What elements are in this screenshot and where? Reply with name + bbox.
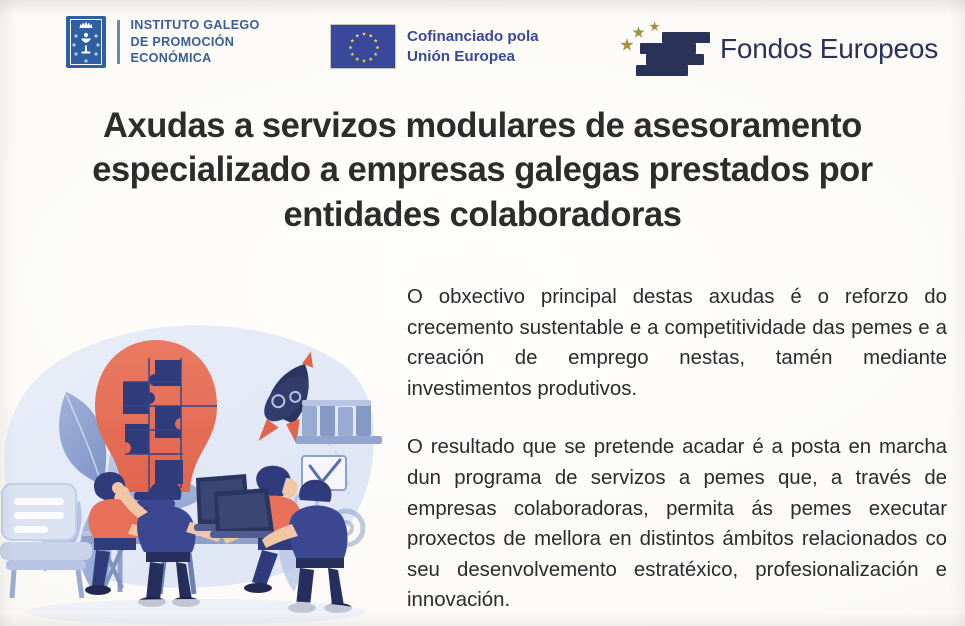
igape-wordmark: INSTITUTO GALEGO DE PROMOCIÓN ECONÓMICA <box>131 17 260 67</box>
floor-shadow <box>26 599 366 625</box>
crown-icon <box>79 21 94 28</box>
logo-igape: INSTITUTO GALEGO DE PROMOCIÓN ECONÓMICA <box>66 16 260 68</box>
page-title: Axudas a servizos modulares de asesorame… <box>41 104 925 237</box>
eu-line-2: Unión Europea <box>407 47 539 67</box>
team-collaboration-illustration <box>0 286 400 626</box>
eu-star-icon <box>375 45 379 49</box>
eu-star-icon <box>373 52 377 56</box>
body-text-column: O obxectivo principal destas axudas é o … <box>407 282 947 616</box>
logo-divider <box>117 20 120 64</box>
eu-star-icon <box>355 57 359 61</box>
eu-star-icon <box>373 39 377 43</box>
fondos-europeos-mark-icon <box>618 18 710 80</box>
chalice-icon <box>79 32 94 56</box>
eu-wordmark: Cofinanciado pola Unión Europea <box>407 27 539 67</box>
eu-star-icon <box>369 34 373 38</box>
igape-line-3: ECONÓMICA <box>131 50 260 67</box>
eu-star-icon <box>355 34 359 38</box>
fondos-europeos-wordmark: Fondos Europeos <box>720 33 938 65</box>
eu-star-icon <box>362 32 366 36</box>
eu-line-1: Cofinanciado pola <box>407 27 539 47</box>
logo-fondos-europeos: Fondos Europeos <box>618 18 938 80</box>
page-title-line-2: especializado a empresas galegas prestad… <box>41 148 925 192</box>
xunta-de-galicia-coat-of-arms-icon <box>66 16 106 68</box>
page-title-line-3: entidades colaboradoras <box>41 193 925 237</box>
paragraph-objective: O obxectivo principal destas axudas é o … <box>407 282 947 404</box>
flyer-page: INSTITUTO GALEGO DE PROMOCIÓN ECONÓMICA … <box>0 0 965 626</box>
eu-star-icon <box>350 52 354 56</box>
header-logo-bar: INSTITUTO GALEGO DE PROMOCIÓN ECONÓMICA … <box>0 10 965 86</box>
eu-star-icon <box>362 59 366 63</box>
paragraph-expected-result: O resultado que se pretende acadar é a p… <box>407 432 947 616</box>
igape-line-1: INSTITUTO GALEGO <box>131 17 260 34</box>
eu-star-icon <box>369 57 373 61</box>
eu-star-icon <box>348 45 352 49</box>
european-union-flag-icon <box>330 24 396 69</box>
eu-star-icon <box>350 39 354 43</box>
igape-line-2: DE PROMOCIÓN <box>131 34 260 51</box>
logo-european-union: Cofinanciado pola Unión Europea <box>330 24 539 69</box>
page-title-line-1: Axudas a servizos modulares de asesorame… <box>41 104 925 148</box>
